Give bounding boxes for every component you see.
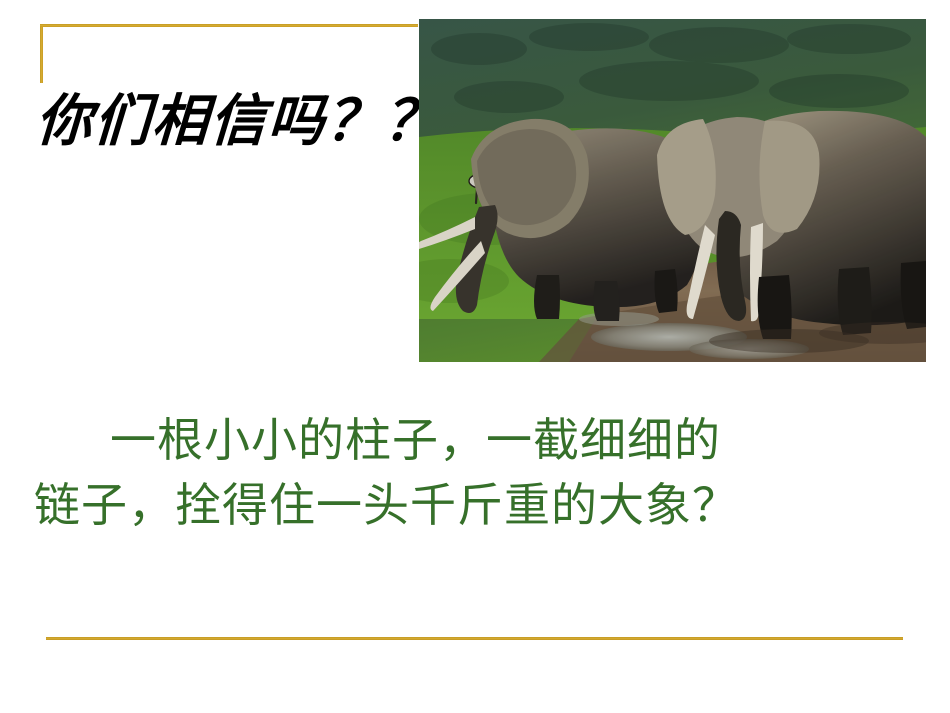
body-line-2: 链子，拴得住一头千斤重的大象？ <box>34 473 914 538</box>
gold-rule-vertical <box>40 24 43 83</box>
slide-canvas: 你们相信吗？？ <box>0 0 950 713</box>
page-title: 你们相信吗？？ <box>34 84 418 158</box>
gold-rule-bottom <box>46 637 903 640</box>
gold-rule-horizontal-top <box>40 24 418 27</box>
elephants-photo <box>419 19 926 362</box>
elephants-photo-illustration <box>419 19 926 362</box>
body-text: 一根小小的柱子，一截细细的 链子，拴得住一头千斤重的大象？ <box>34 408 914 538</box>
body-line-1: 一根小小的柱子，一截细细的 <box>34 408 914 473</box>
